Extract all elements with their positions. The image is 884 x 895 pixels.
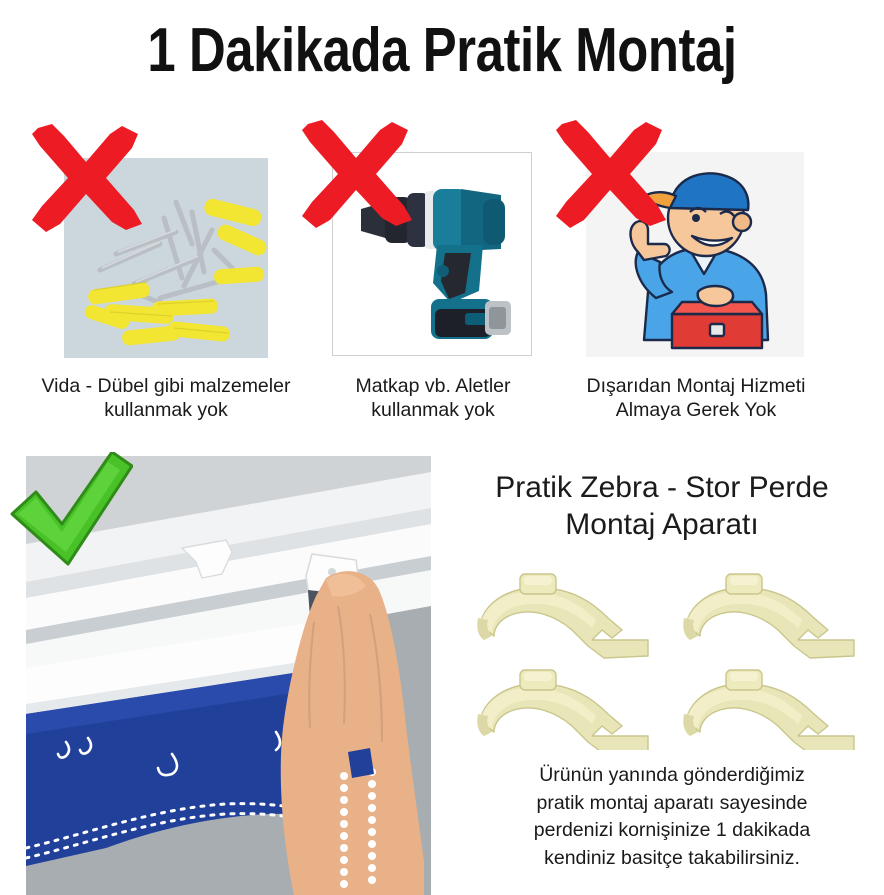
product-description-line3: perdenizi kornişinize 1 dakikada — [462, 817, 882, 845]
handyman-illustration — [586, 152, 804, 357]
caption-screws: Vida - Dübel gibi malzemeler kullanmak y… — [10, 374, 322, 423]
mounting-clips-illustration — [470, 560, 870, 750]
cordless-drill-illustration — [333, 153, 531, 355]
screws-and-dowels-photo — [64, 158, 268, 358]
caption-screws-line2: kullanmak yok — [10, 398, 322, 422]
product-description: Ürünün yanında gönderdiğimiz pratik mont… — [462, 762, 882, 873]
caption-drill-line2: kullanmak yok — [330, 398, 536, 422]
product-description-line2: pratik montaj aparatı sayesinde — [462, 790, 882, 818]
mounting-clips-photo — [470, 560, 870, 750]
product-heading: Pratik Zebra - Stor Perde Montaj Aparatı — [444, 470, 880, 543]
product-heading-line1: Pratik Zebra - Stor Perde — [444, 470, 880, 507]
caption-drill-line1: Matkap vb. Aletler — [330, 374, 536, 398]
screws-and-dowels-illustration — [64, 158, 268, 358]
green-check-icon — [8, 452, 133, 574]
caption-service-line2: Almaya Gerek Yok — [546, 398, 846, 422]
caption-service: Dışarıdan Montaj Hizmeti Almaya Gerek Yo… — [546, 374, 846, 423]
caption-service-line1: Dışarıdan Montaj Hizmeti — [546, 374, 846, 398]
product-heading-line2: Montaj Aparatı — [444, 507, 880, 544]
caption-drill: Matkap vb. Aletler kullanmak yok — [330, 374, 536, 423]
product-description-line1: Ürünün yanında gönderdiğimiz — [462, 762, 882, 790]
product-description-line4: kendiniz basitçe takabilirsiniz. — [462, 845, 882, 873]
page-title: 1 Dakikada Pratik Montaj — [80, 18, 805, 83]
caption-screws-line1: Vida - Dübel gibi malzemeler — [10, 374, 322, 398]
handyman-cartoon — [586, 152, 804, 357]
cordless-drill-photo — [332, 152, 532, 356]
